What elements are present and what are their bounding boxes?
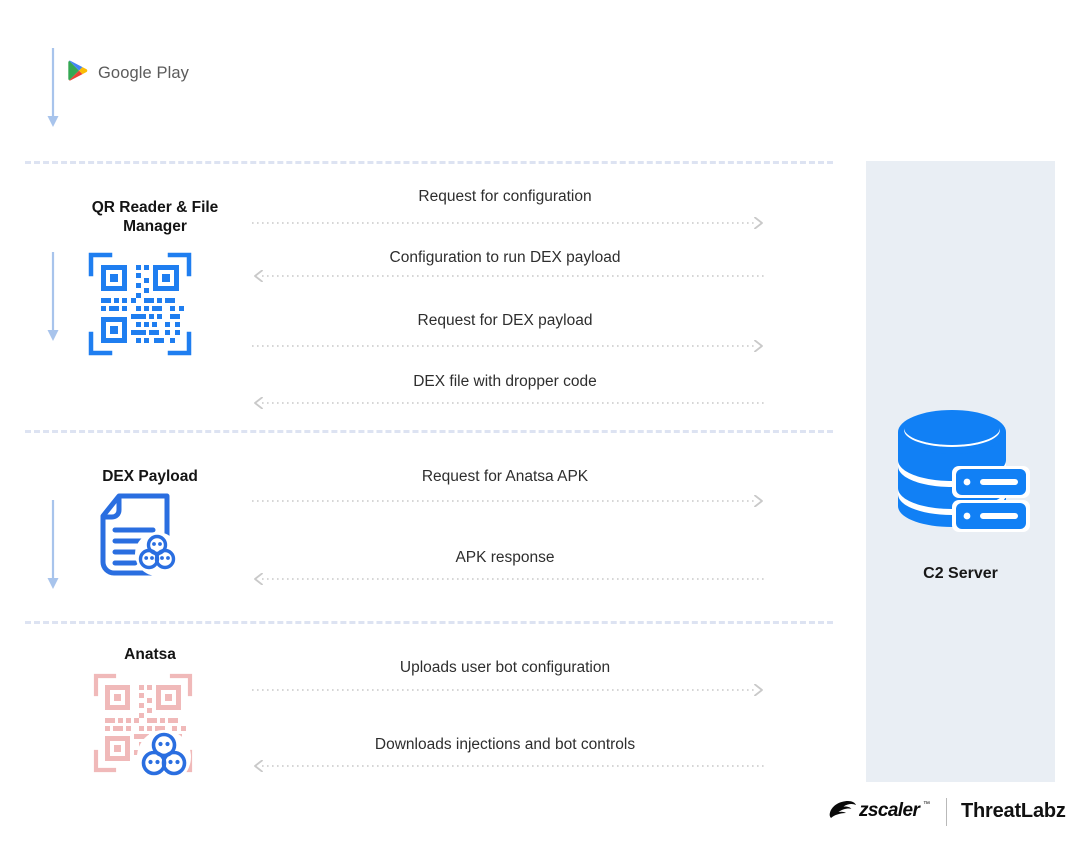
google-play-icon — [68, 60, 88, 87]
threatlabz-label: ThreatLabz — [961, 800, 1066, 823]
google-play-label: Google Play — [98, 64, 189, 83]
message-arrow-right-5 — [252, 494, 765, 506]
svg-text:zscaler: zscaler — [858, 800, 921, 821]
flow-arrow-qr-reader — [40, 252, 66, 349]
message-arrow-left-4 — [252, 396, 765, 408]
message-label-1: Request for configuration — [225, 188, 785, 206]
message-arrow-left-8 — [252, 759, 765, 771]
message-label-5: Request for Anatsa APK — [225, 468, 785, 486]
message-arrow-right-3 — [252, 339, 765, 351]
qr-code-biohazard-icon — [93, 673, 209, 790]
svg-text:™: ™ — [923, 801, 930, 808]
database-server-icon — [890, 388, 1032, 543]
stage-label-qr-reader-line2: Manager — [55, 217, 255, 236]
message-arrow-left-6 — [252, 572, 765, 584]
section-separator-2 — [25, 430, 833, 433]
document-biohazard-icon — [97, 492, 189, 593]
brand-divider — [946, 798, 947, 826]
message-arrow-left-2 — [252, 269, 765, 281]
stage-label-anatsa: Anatsa — [55, 645, 245, 664]
flow-arrow-google-play — [40, 48, 66, 135]
footer-branding: zscaler ™ ThreatLabz — [828, 796, 1066, 827]
message-label-7: Uploads user bot configuration — [225, 659, 785, 677]
qr-code-icon — [88, 252, 192, 361]
zscaler-logo: zscaler ™ — [828, 796, 932, 827]
flow-arrow-dex-payload — [40, 500, 66, 597]
message-label-8: Downloads injections and bot controls — [225, 736, 785, 754]
section-separator-3 — [25, 621, 833, 624]
stage-label-dex-payload: DEX Payload — [55, 467, 245, 486]
google-play-source: Google Play — [68, 60, 189, 87]
message-label-4: DEX file with dropper code — [225, 373, 785, 391]
c2-server-label: C2 Server — [866, 565, 1055, 583]
message-label-2: Configuration to run DEX payload — [225, 249, 785, 267]
message-label-3: Request for DEX payload — [225, 312, 785, 330]
message-arrow-right-7 — [252, 683, 765, 695]
message-label-6: APK response — [225, 549, 785, 567]
message-arrow-right-1 — [252, 216, 765, 228]
diagram-canvas: Google Play — [0, 0, 1080, 853]
section-separator-1 — [25, 161, 833, 164]
